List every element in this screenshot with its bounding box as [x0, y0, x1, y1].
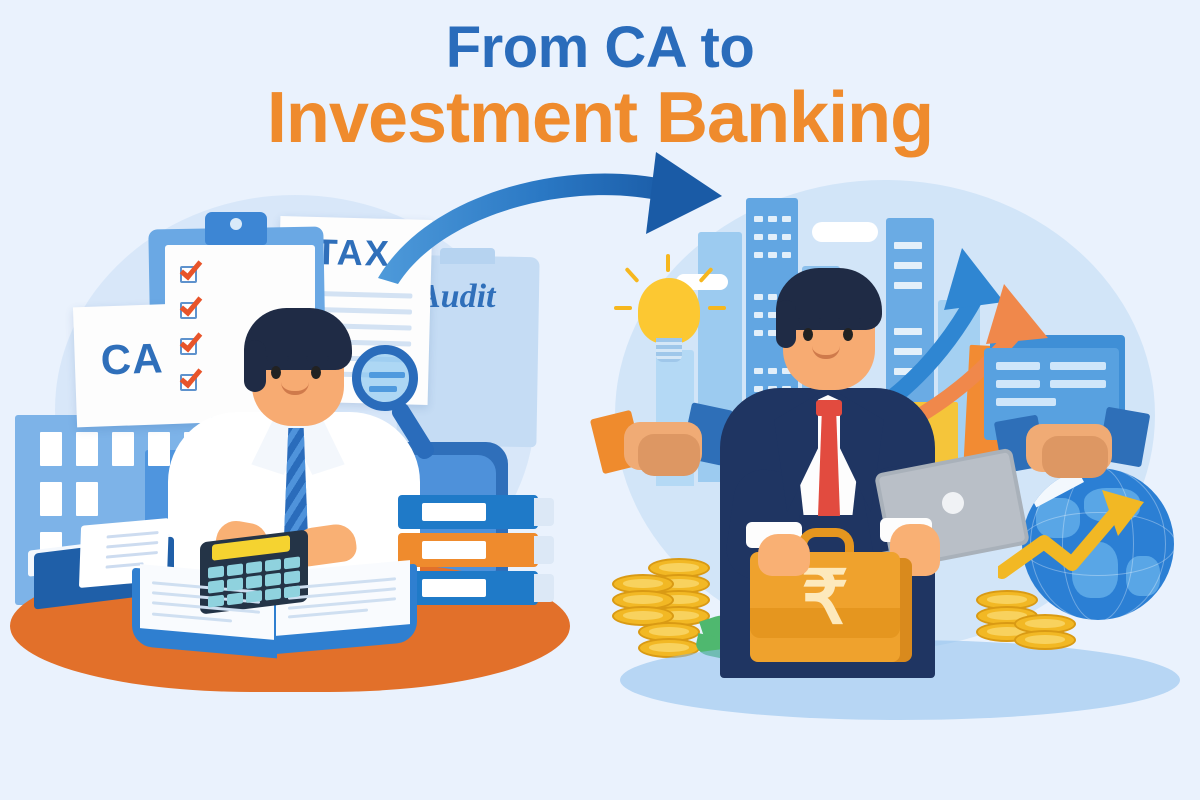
ib-person-sideburn — [776, 300, 796, 348]
doc-line — [996, 380, 1040, 388]
ca-label: CA — [100, 334, 164, 384]
poster-title: From CA to Investment Banking — [0, 18, 1200, 156]
building-window — [40, 482, 62, 516]
handshake-grip-left — [638, 434, 700, 476]
book-pages — [534, 574, 554, 602]
book-bottom — [398, 571, 538, 605]
building-window — [76, 482, 98, 516]
book-pages — [534, 498, 554, 526]
ib-eye — [843, 328, 853, 341]
doc-line — [1050, 362, 1106, 370]
bulb-ray — [708, 306, 726, 310]
doc-line — [996, 398, 1056, 406]
lightbulb-base — [656, 338, 682, 362]
coin — [1014, 630, 1076, 650]
magnified-line — [369, 386, 397, 392]
ca-eyebrow — [306, 356, 329, 361]
ib-eyebrow — [838, 318, 861, 323]
book-label — [422, 541, 486, 559]
ca-person-sideburn — [244, 340, 266, 392]
magnifying-glass-icon — [352, 345, 418, 411]
ca-eyebrow — [266, 356, 289, 361]
doc-line — [996, 362, 1040, 370]
globe-growth-arrow — [998, 480, 1188, 610]
title-line-1: From CA to — [0, 18, 1200, 79]
magnified-line — [369, 372, 405, 378]
curved-transition-arrow — [360, 150, 780, 300]
title-line-2: Investment Banking — [0, 81, 1200, 157]
stacked-books — [398, 495, 558, 610]
ca-eye — [311, 366, 321, 379]
ib-eye — [803, 328, 813, 341]
poster-canvas: From CA to Investment Banking Audit TAX — [0, 0, 1200, 800]
ca-eye — [271, 366, 281, 379]
building-window — [148, 432, 170, 466]
book-label — [422, 503, 486, 521]
building-window — [40, 432, 62, 466]
bulb-ray — [614, 306, 632, 310]
ledger-line — [106, 551, 158, 559]
book-pages — [534, 536, 554, 564]
ib-hand-left — [758, 534, 810, 576]
ledger-line — [107, 531, 159, 539]
building-window — [112, 432, 134, 466]
handshake-grip-right — [1042, 436, 1108, 478]
clipboard-clip — [205, 212, 267, 245]
book-top — [398, 495, 538, 529]
ib-necktie-knot — [816, 400, 842, 416]
book-label — [422, 579, 486, 597]
ledger-line — [106, 541, 158, 549]
doc-line — [1050, 380, 1106, 388]
ib-eyebrow — [798, 318, 821, 323]
book-middle — [398, 533, 538, 567]
laptop-logo — [942, 492, 964, 514]
cloud-icon — [812, 222, 878, 242]
building-window — [76, 432, 98, 466]
